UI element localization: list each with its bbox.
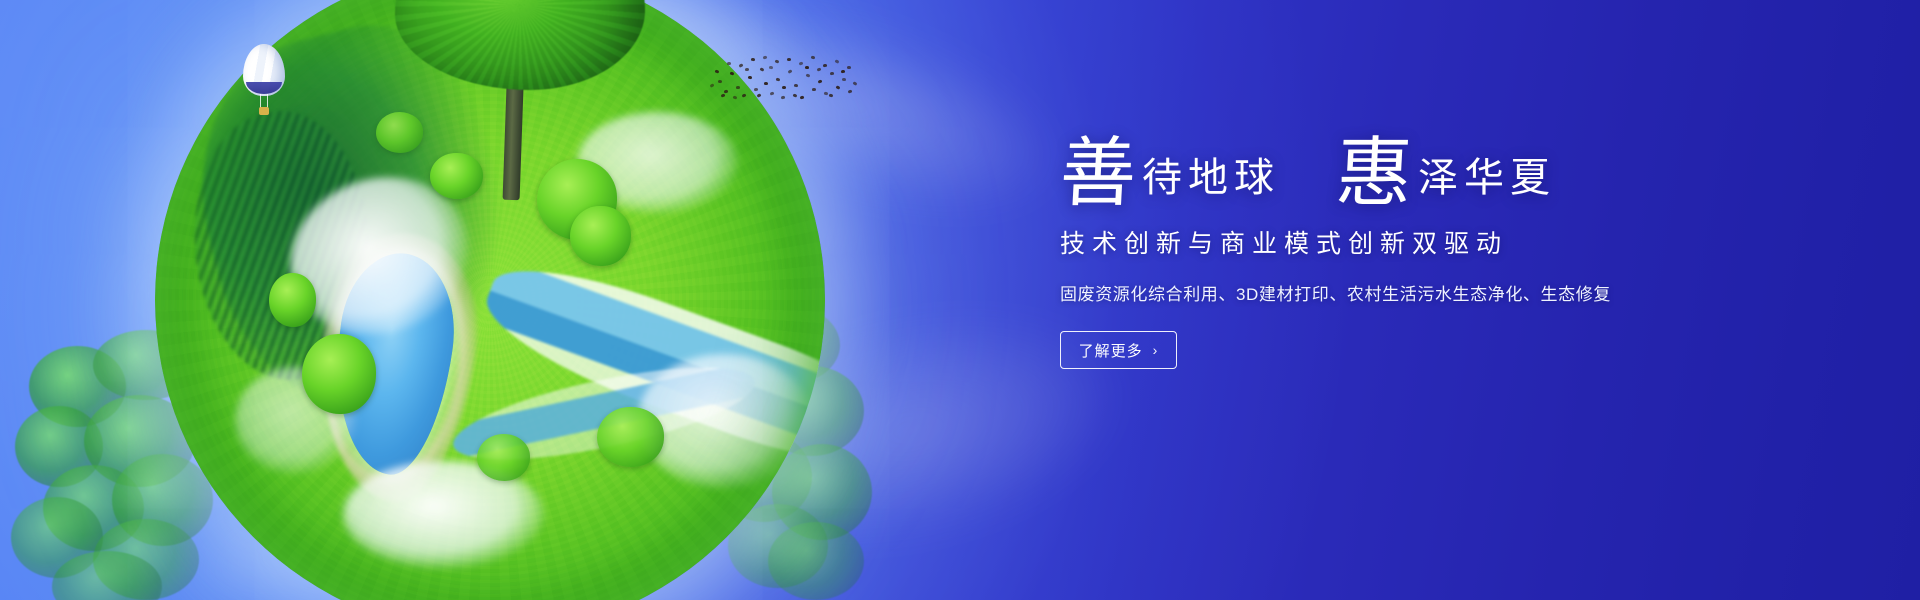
headline-phrase-1: 善 待地球 [1060, 130, 1280, 206]
headline-rest-1: 待地球 [1142, 158, 1280, 206]
headline-phrase-2: 惠 泽华夏 [1336, 130, 1556, 206]
chevron-right-icon: › [1153, 342, 1159, 358]
bird-flock-icon [706, 50, 856, 98]
hero-banner: 善 待地球 惠 泽华夏 技术创新与商业模式创新双驱动 固废资源化综合利用、3D建… [0, 0, 1920, 600]
headline-rest-2: 泽华夏 [1418, 158, 1556, 206]
description: 固废资源化综合利用、3D建材打印、农村生活污水生态净化、生态修复 [1060, 280, 1760, 305]
headline-lead-char-1: 善 [1058, 136, 1138, 212]
learn-more-button[interactable]: 了解更多 › [1060, 331, 1177, 369]
learn-more-label: 了解更多 [1079, 340, 1143, 361]
banner-content: 善 待地球 惠 泽华夏 技术创新与商业模式创新双驱动 固废资源化综合利用、3D建… [1060, 130, 1760, 369]
headline-lead-char-2: 惠 [1334, 136, 1414, 212]
hot-air-balloon-icon [243, 44, 285, 118]
balloon-basket [259, 107, 269, 115]
headline: 善 待地球 惠 泽华夏 [1060, 130, 1760, 206]
subtitle: 技术创新与商业模式创新双驱动 [1060, 224, 1760, 260]
balloon-ropes [260, 94, 268, 108]
